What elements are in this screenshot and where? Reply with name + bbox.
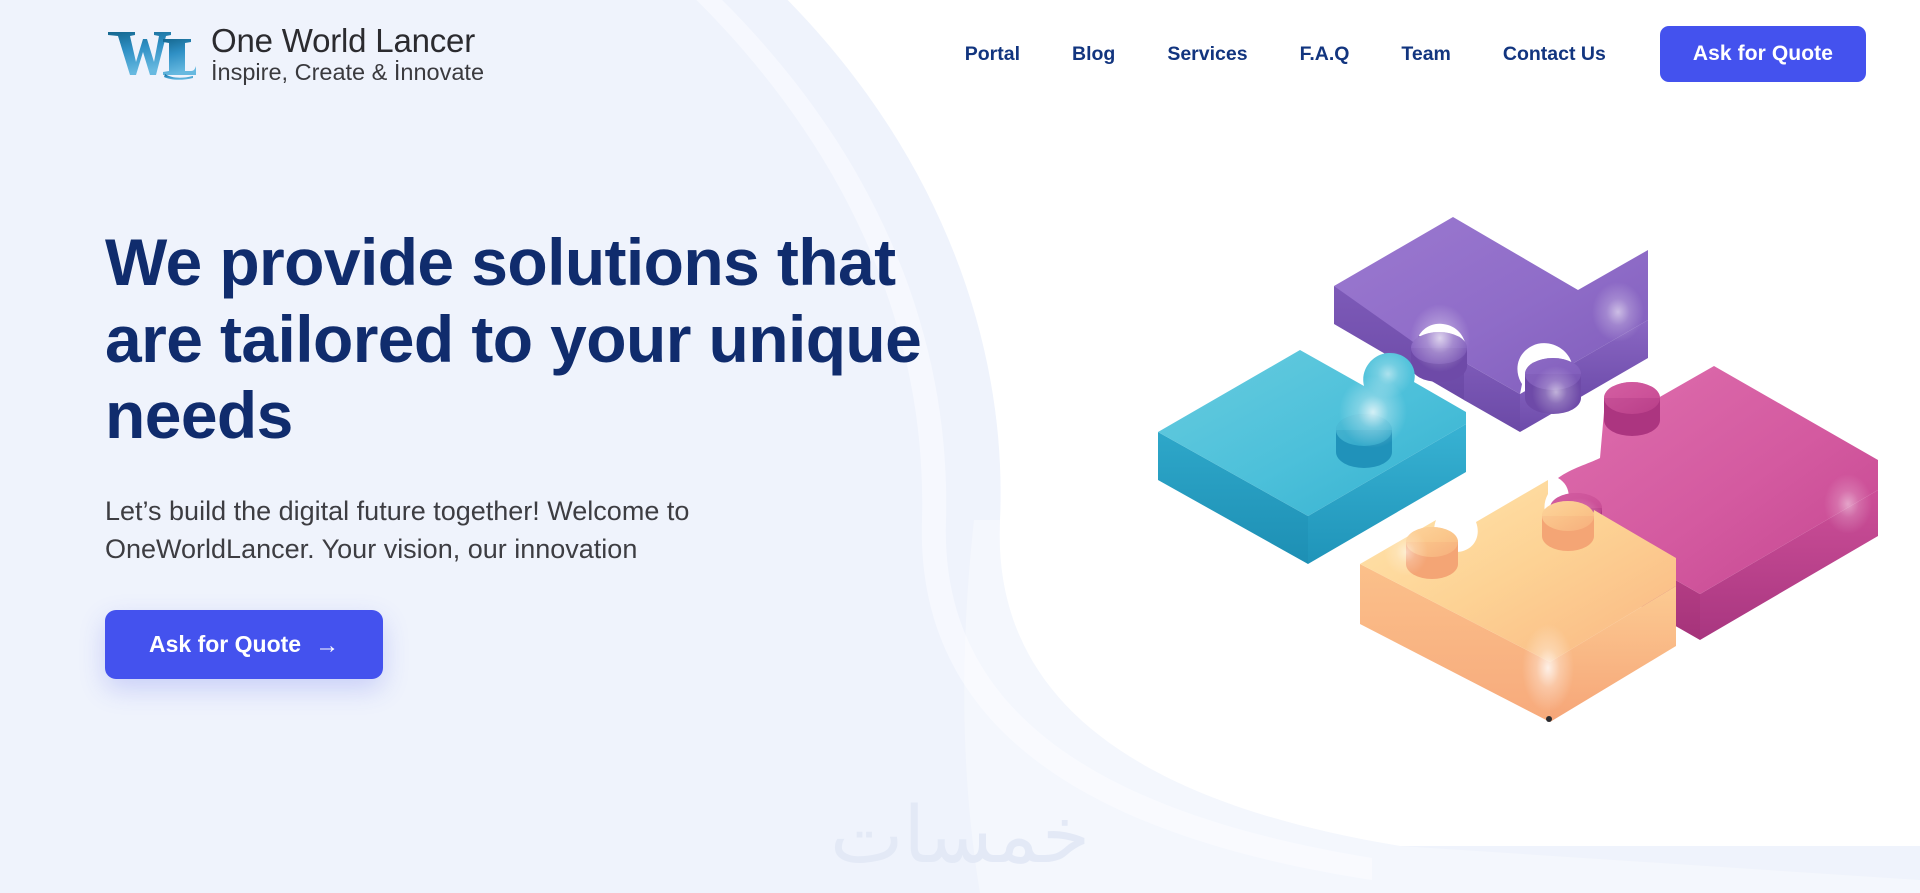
hero-cta-label: Ask for Quote xyxy=(149,631,301,658)
arrow-right-icon: → xyxy=(315,634,339,658)
hero-page: One World Lancer İnspire, Create & İnnov… xyxy=(0,0,1920,893)
hero-ask-for-quote-button[interactable]: Ask for Quote → xyxy=(105,610,383,679)
site-watermark: خمسات xyxy=(830,797,1090,875)
four-piece-jigsaw-puzzle-illustration xyxy=(1148,112,1888,732)
hero-copy: We provide solutions that are tailored t… xyxy=(105,224,935,679)
hero-section: We provide solutions that are tailored t… xyxy=(0,0,1920,893)
hero-subtitle: Let’s build the digital future together!… xyxy=(105,492,875,569)
hero-title: We provide solutions that are tailored t… xyxy=(105,224,925,454)
